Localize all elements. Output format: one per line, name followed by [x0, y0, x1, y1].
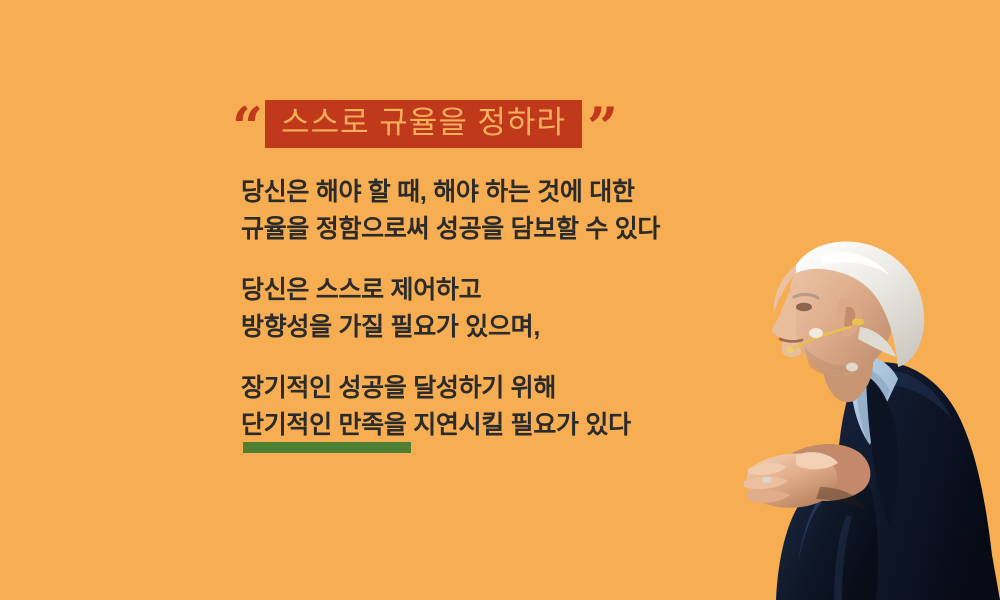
- eye: [796, 303, 812, 311]
- paragraph-1-line-2: 규율을 정함으로써 성공을 담보할 수 있다: [241, 211, 761, 248]
- presentation-slide: “ 스스로 규율을 정하라 ” 당신은 해야 할 때, 해야 하는 것에 대한 …: [0, 0, 1000, 600]
- close-quote-icon: ”: [587, 102, 616, 153]
- mic-neck-tape: [846, 363, 858, 372]
- mic-ear-clip: [852, 319, 864, 325]
- paragraph-1: 당신은 해야 할 때, 해야 하는 것에 대한 규율을 정함으로써 성공을 담보…: [241, 174, 761, 248]
- open-quote-icon: “: [232, 102, 261, 153]
- paragraph-1-line-1: 당신은 해야 할 때, 해야 하는 것에 대한: [241, 174, 761, 211]
- ring: [762, 477, 771, 483]
- quote-title-row: “ 스스로 규율을 정하라 ”: [232, 100, 616, 158]
- mic-capsule: [787, 347, 793, 353]
- paragraph-2-line-2: 방향성을 가질 필요가 있으며,: [241, 309, 761, 346]
- speaker-photo: [700, 215, 1000, 600]
- speaker-photo-illustration: [700, 215, 1000, 600]
- paragraph-2-line-1: 당신은 스스로 제어하고: [241, 272, 761, 309]
- mic-face-tape: [809, 328, 823, 338]
- title-text: 스스로 규율을 정하라: [281, 107, 566, 138]
- paragraph-3-line-1: 장기적인 성공을 달성하기 위해: [241, 370, 761, 407]
- paragraph-2: 당신은 스스로 제어하고 방향성을 가질 필요가 있으며,: [241, 272, 761, 346]
- paragraph-3-line-2: 단기적인 만족을 지연시킬 필요가 있다: [241, 407, 761, 444]
- quote-body: 당신은 해야 할 때, 해야 하는 것에 대한 규율을 정함으로써 성공을 담보…: [241, 174, 761, 444]
- title-banner: 스스로 규율을 정하라: [265, 100, 582, 148]
- paragraph-3: 장기적인 성공을 달성하기 위해 단기적인 만족을 지연시킬 필요가 있다: [241, 370, 761, 444]
- green-divider-bar: [243, 442, 411, 453]
